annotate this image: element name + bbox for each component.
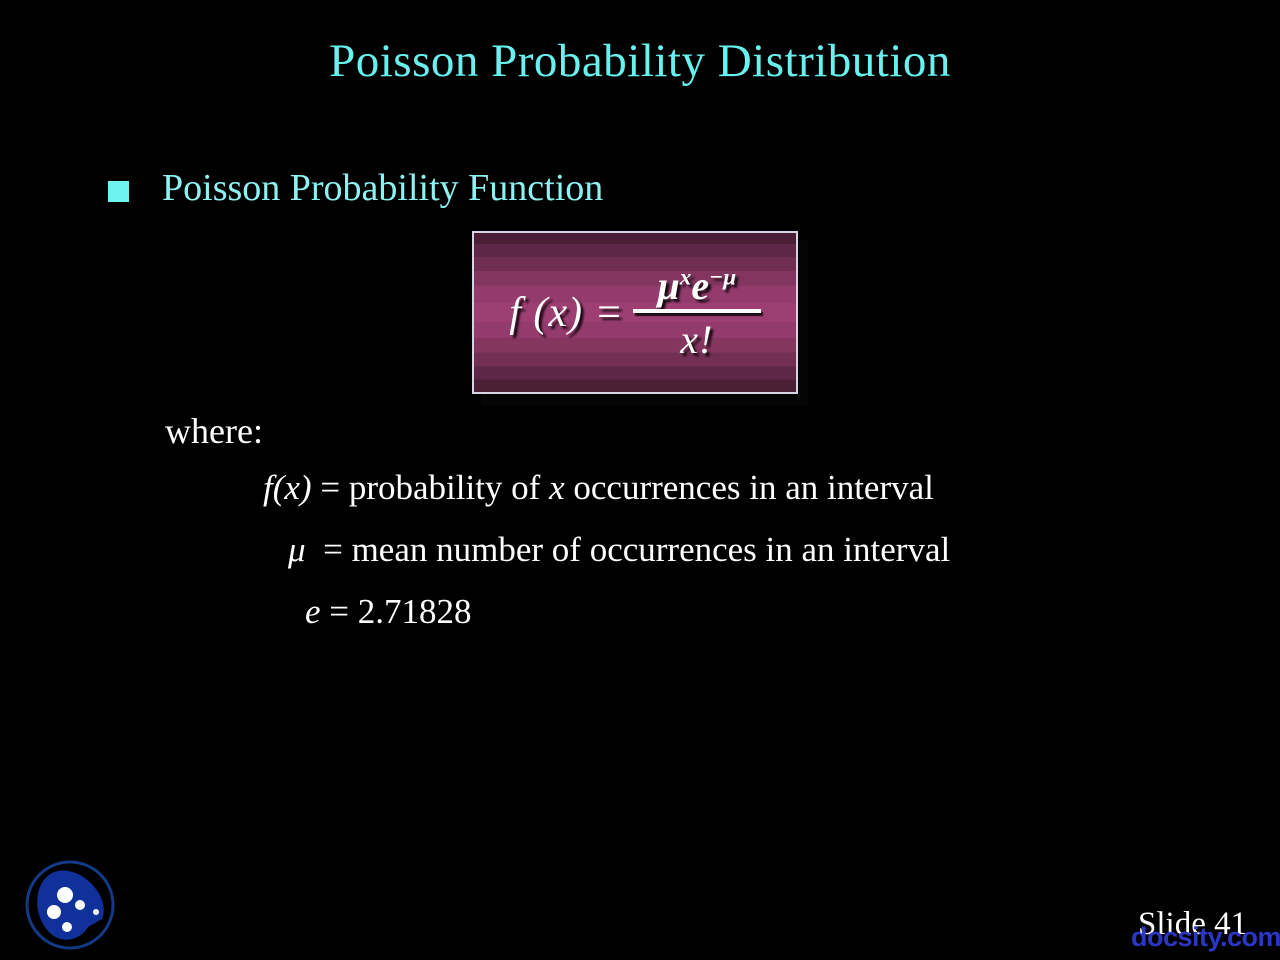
definition-text-before: mean number of occurrences in an interva…: [352, 530, 951, 569]
formula-e-base: e: [691, 263, 709, 308]
definition-line-mu: μ = mean number of occurrences in an int…: [288, 532, 1280, 567]
bullet-item-label: Poisson Probability Function: [162, 168, 603, 210]
definition-italic-token: x: [549, 468, 565, 507]
definition-symbol: μ: [288, 530, 306, 569]
formula-fraction: μxe−μ x!: [633, 265, 761, 363]
definition-symbol: f(x): [263, 468, 312, 507]
definition-line-e: e = 2.71828: [305, 594, 1280, 629]
formula-numerator: μxe−μ: [652, 265, 743, 309]
definition-equals: =: [320, 468, 340, 507]
formula-mu-base: μ: [658, 263, 680, 308]
where-label: where:: [165, 410, 263, 452]
slide-canvas: Poisson Probability Distribution Poisson…: [0, 0, 1280, 960]
definition-list: f(x) = probability of x occurrences in a…: [0, 470, 1280, 656]
circular-blob-logo: [22, 855, 118, 955]
formula-minus-mu-exponent: −μ: [709, 264, 736, 290]
formula-denominator: x!: [680, 313, 713, 363]
page-title: Poisson Probability Distribution: [0, 36, 1280, 88]
square-bullet-icon: [108, 181, 129, 202]
docsity-watermark: docsity.com: [1131, 922, 1280, 953]
definition-equals: =: [323, 530, 343, 569]
poisson-probability-formula: f (x) = μxe−μ x!: [509, 264, 761, 362]
bullet-item-poisson-function: Poisson Probability Function: [108, 168, 603, 210]
definition-equals: =: [329, 592, 349, 631]
definition-text-after: occurrences in an interval: [565, 468, 934, 507]
formula-box: f (x) = μxe−μ x!: [472, 231, 798, 394]
definition-text-before: 2.71828: [358, 592, 472, 631]
definition-symbol: e: [305, 592, 321, 631]
formula-x-exponent: x: [680, 264, 692, 290]
definition-line-fx: f(x) = probability of x occurrences in a…: [263, 470, 1280, 505]
formula-left-side: f (x) =: [509, 289, 624, 337]
definition-text-before: probability of: [349, 468, 549, 507]
